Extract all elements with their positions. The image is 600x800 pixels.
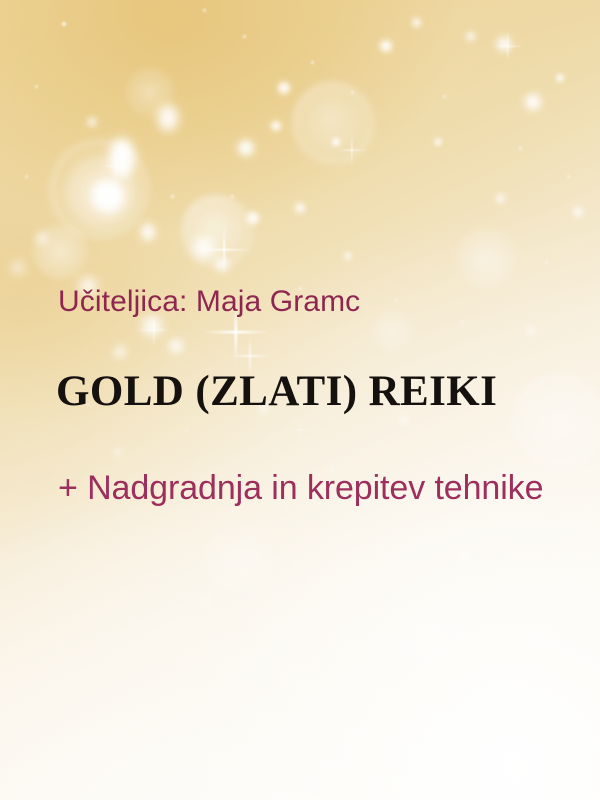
- poster-text-content: Učiteljica: Maja Gramc GOLD (ZLATI) REIK…: [0, 0, 600, 800]
- page-title: GOLD (ZLATI) REIKI: [56, 368, 497, 415]
- poster-canvas: Učiteljica: Maja Gramc GOLD (ZLATI) REIK…: [0, 0, 600, 800]
- subtitle-line: + Nadgradnja in krepitev tehnike: [58, 468, 543, 508]
- teacher-line: Učiteljica: Maja Gramc: [58, 284, 360, 319]
